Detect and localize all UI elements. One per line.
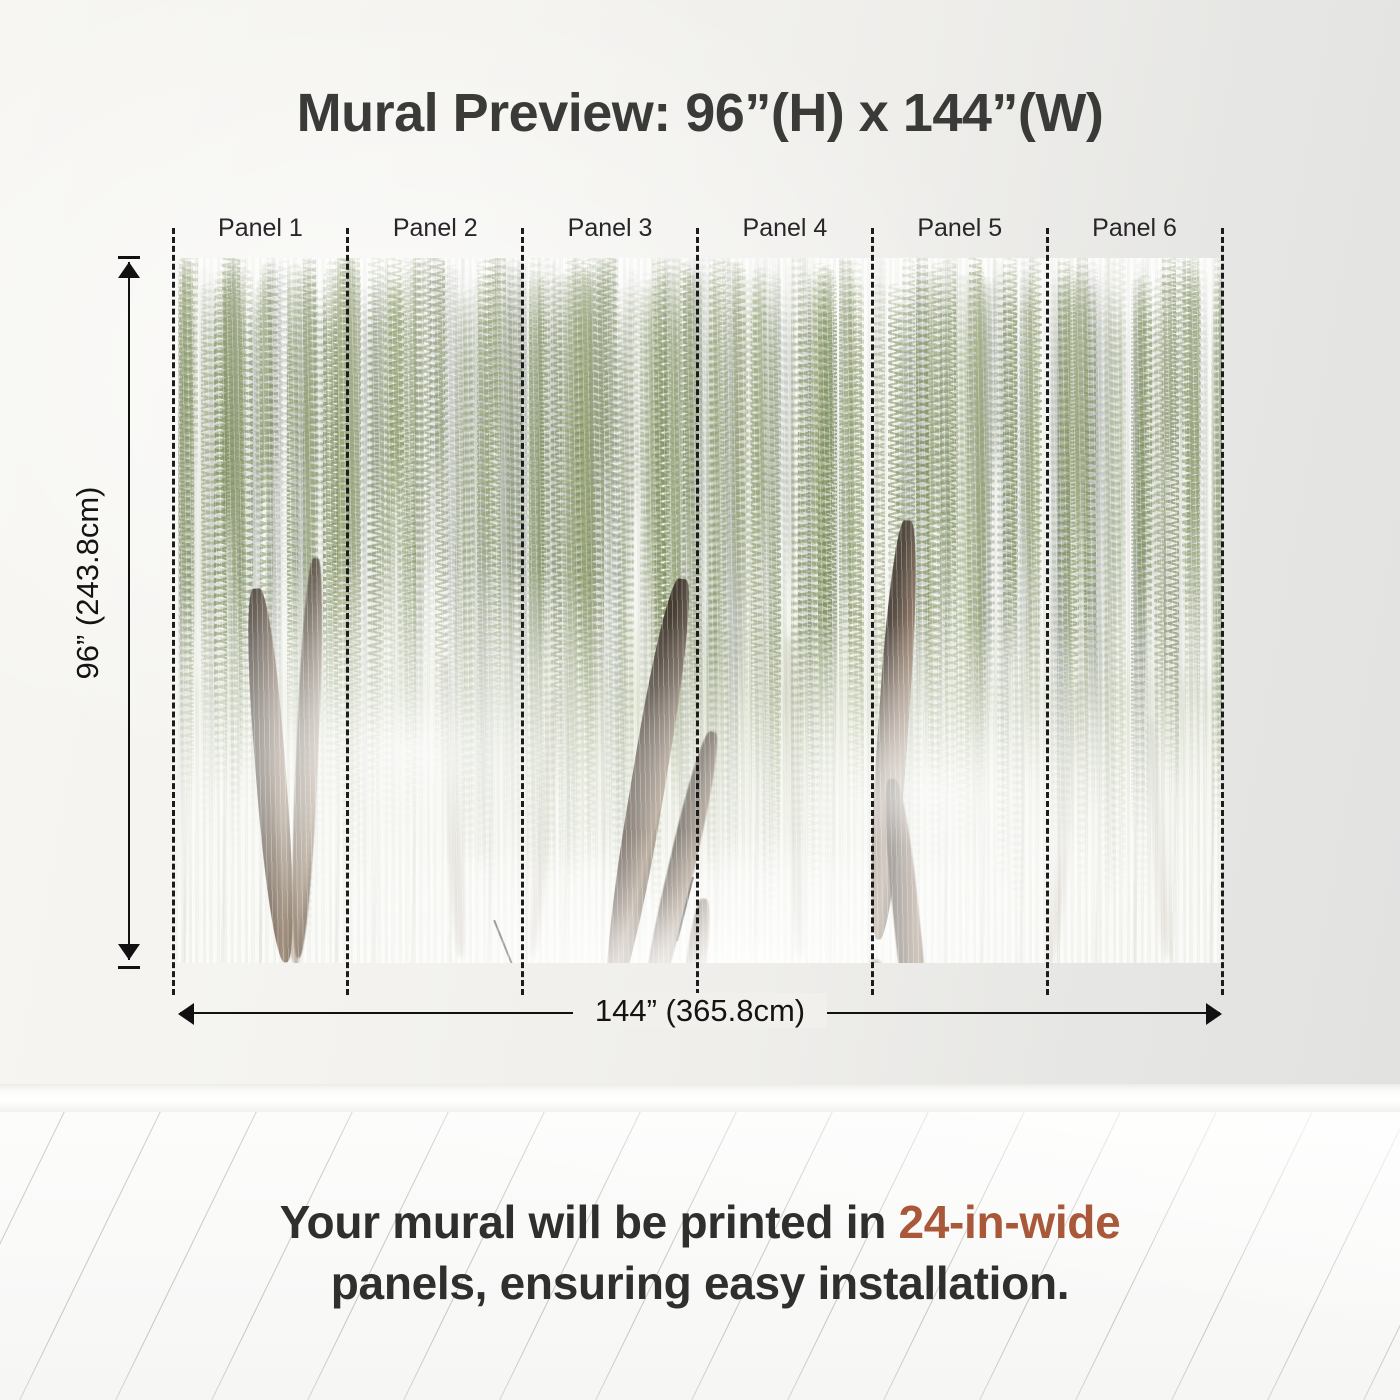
height-arrowhead-down — [118, 944, 140, 960]
panel-label-1: Panel 1 — [173, 214, 348, 243]
mural-edge-line — [172, 228, 175, 995]
width-dimension-label: 144” (365.8cm) — [0, 993, 1400, 1029]
mural-preview-scene: Mural Preview: 96”(H) x 144”(W) Panel 1P… — [0, 0, 1400, 1400]
height-arrow-shaft — [128, 262, 130, 960]
caption-accent-text: 24-in-wide — [898, 1196, 1120, 1248]
panel-divider-3 — [696, 228, 699, 995]
panel-divider-2 — [521, 228, 524, 995]
height-cap-bottom — [118, 966, 140, 969]
caption-text-before: Your mural will be printed in — [280, 1196, 899, 1248]
height-arrowhead-up — [118, 262, 140, 278]
mural-artwork[interactable] — [178, 258, 1222, 963]
panel-label-3: Panel 3 — [523, 214, 698, 243]
width-dimension-text: 144” (365.8cm) — [573, 993, 827, 1028]
panel-divider-4 — [871, 228, 874, 995]
page-title: Mural Preview: 96”(H) x 144”(W) — [0, 82, 1400, 144]
caption-line-2: panels, ensuring easy installation. — [0, 1253, 1400, 1314]
panel-divider-5 — [1046, 228, 1049, 995]
mural-edge-line — [1221, 228, 1224, 995]
height-cap-top — [118, 256, 140, 259]
height-dimension-label: 96” (243.8cm) — [70, 433, 106, 733]
panel-divider-1 — [346, 228, 349, 995]
panel-label-6: Panel 6 — [1047, 214, 1222, 243]
footer-caption: Your mural will be printed in 24-in-wide… — [0, 1192, 1400, 1313]
mural-paper-grain — [178, 258, 1222, 963]
baseboard — [0, 1084, 1400, 1114]
caption-line-1: Your mural will be printed in 24-in-wide — [0, 1192, 1400, 1253]
panel-label-2: Panel 2 — [348, 214, 523, 243]
panel-label-5: Panel 5 — [872, 214, 1047, 243]
panel-label-4: Panel 4 — [698, 214, 873, 243]
